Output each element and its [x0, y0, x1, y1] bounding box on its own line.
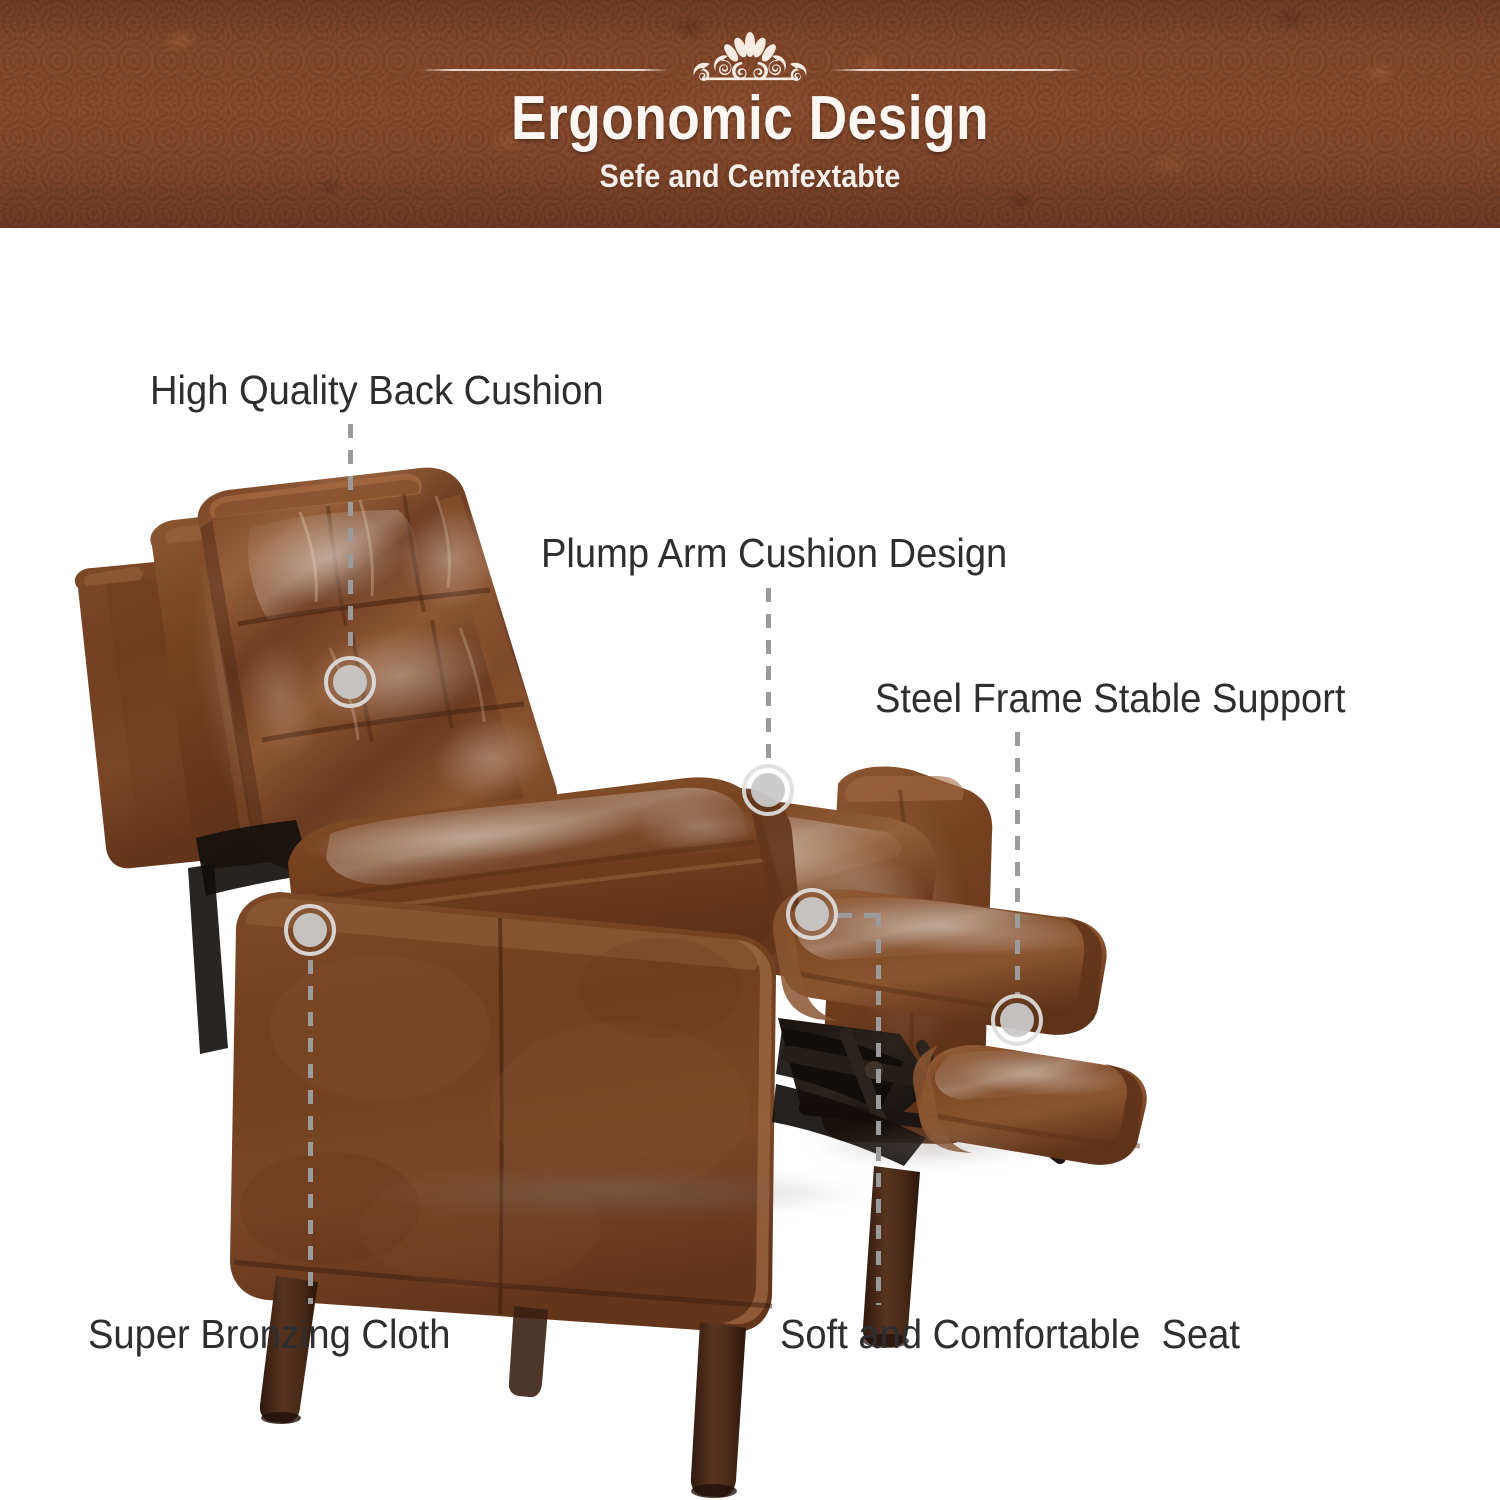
header-banner: Ergonomic Design Sefe and Cemfextabte [0, 0, 1500, 228]
connector-back-cushion [348, 424, 353, 656]
ornament-divider [0, 28, 1500, 90]
connector-arm-cushion [766, 588, 771, 764]
floor-shadow-secondary [760, 1118, 1090, 1174]
callout-label-steel-frame: Steel Frame Stable Support [875, 678, 1346, 719]
page-subtitle: Sefe and Cemfextabte [75, 160, 1425, 192]
callout-label-bronzing-cloth: Super Bronzing Cloth [88, 1314, 450, 1355]
filigree-flourish-icon [630, 28, 870, 90]
callout-label-comfortable-seat: Soft and Comfortable Seat [780, 1314, 1240, 1355]
infographic-canvas: Ergonomic Design Sefe and Cemfextabte [0, 0, 1500, 1500]
marker-bronzing-cloth[interactable] [284, 904, 336, 956]
recliner-illustration [0, 228, 1500, 1500]
product-image-recliner [0, 228, 1500, 1500]
marker-back-cushion[interactable] [324, 656, 376, 708]
callout-label-back-cushion: High Quality Back Cushion [150, 370, 604, 411]
connector-bronzing-cloth [308, 960, 313, 1304]
divider-rule-right [830, 69, 1080, 71]
connector-seat-vertical [876, 913, 881, 1305]
marker-steel-frame[interactable] [991, 994, 1043, 1046]
page-title: Ergonomic Design [105, 88, 1395, 150]
callout-label-arm-cushion: Plump Arm Cushion Design [541, 533, 1007, 574]
connector-steel-frame [1015, 732, 1020, 994]
marker-comfortable-seat[interactable] [786, 888, 838, 940]
divider-rule-left [420, 69, 670, 71]
marker-arm-cushion[interactable] [742, 764, 794, 816]
